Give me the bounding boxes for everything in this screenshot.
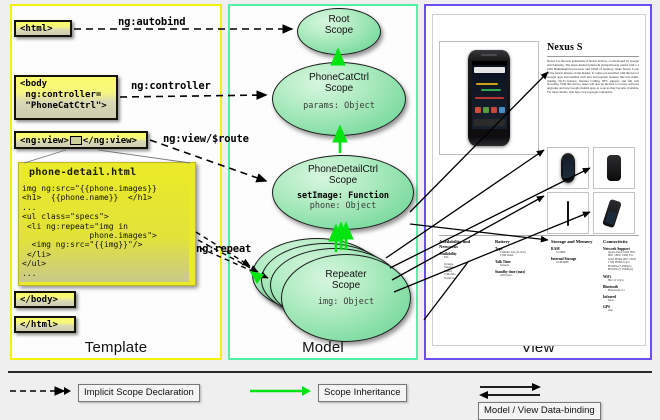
phone-front-screen — [563, 158, 574, 178]
phone-dock — [474, 119, 505, 126]
phone-back-icon — [607, 155, 621, 181]
spec-value: 428 hours — [495, 274, 543, 278]
phonedetailctrl-scope-member-setimage: setImage: Function — [273, 191, 413, 201]
legend-label: Model / View Data-binding — [478, 402, 601, 420]
code-box-ng-view: <ng:view></ng:view> — [14, 131, 148, 149]
label-ng-repeat: ng:repeat — [196, 243, 251, 255]
spec-value: Lithium Ion (Li-Ion) 1500 mAh — [495, 251, 543, 258]
title-divider — [547, 56, 639, 57]
repeater-scope-title-1: Repeater — [282, 269, 410, 280]
phone-app-icon-4 — [499, 107, 505, 113]
thumbnail-phone-angled[interactable] — [593, 192, 635, 234]
code-box-body: <body ng:controller= "PhoneCatCtrl"> — [14, 75, 118, 120]
legend-scope-inheritance: Scope Inheritance — [248, 382, 407, 400]
green-arrow-icon — [248, 384, 312, 398]
thumbnail-phone-back[interactable] — [593, 147, 635, 189]
spec-column-battery: Battery Type Lithium Ion (Li-Ion) 1500 m… — [495, 239, 543, 278]
spec-value: false — [603, 299, 646, 303]
note-title: phone-detail.html — [19, 163, 195, 180]
note-code: img ng:src="{{phone.images}} <h1> {{phon… — [19, 182, 189, 282]
spec-value: 802.11 b/g/n — [603, 279, 646, 283]
phone-hero-image — [468, 50, 510, 146]
code-box-html: <html> — [14, 20, 72, 37]
label-ng-autobind: ng:autobind — [118, 16, 185, 28]
spec-header: Storage and Memory — [551, 239, 599, 244]
thumbnail-phone-front[interactable] — [547, 147, 589, 189]
phone-detail-template-note: phone-detail.html img ng:src="{{phone.im… — [18, 162, 196, 286]
panel-model-label: Model — [230, 339, 416, 356]
phone-speaker — [481, 54, 497, 56]
rendered-view-page: Nexus S Nexus S is the next generation o… — [432, 14, 646, 346]
phonecatctrl-scope-member-params: params: Object — [273, 101, 405, 111]
phonedetailctrl-scope-title-1: PhoneDetailCtrl — [273, 164, 413, 175]
repeater-scope: Repeater Scope img: Object — [281, 254, 411, 342]
view-description: Nexus S is the next generation of Nexus … — [547, 60, 639, 138]
spec-value: M1, Orange, Singtel, Sprint, T-Mobile, V… — [439, 256, 487, 281]
phone-search-widget — [474, 67, 505, 73]
label-ng-controller: ng:controller — [131, 80, 211, 92]
double-arrow-icon — [478, 383, 542, 399]
phonecatctrl-scope-title-1: PhoneCatCtrl — [273, 72, 405, 83]
phone-edge-icon — [567, 201, 569, 226]
dashed-arrow-icon — [8, 384, 72, 398]
phone-app-icon-3 — [491, 107, 497, 113]
ng-view-open-tag: <ng:view> — [20, 136, 69, 146]
ng-view-close-tag: </ng:view> — [83, 136, 137, 146]
spec-value: Bluetooth 2.1 — [603, 289, 646, 293]
thumbnail-phone-edge[interactable] — [547, 192, 589, 234]
spec-divider — [439, 235, 639, 236]
spec-column-storage: Storage and Memory RAM 512MB Internal St… — [551, 239, 599, 264]
spec-column-availability: Availability and Networks Availability M… — [439, 239, 487, 281]
phone-angled-icon — [602, 199, 622, 228]
repeater-scope-title-2: Scope — [282, 280, 410, 291]
phonedetailctrl-scope: PhoneDetailCtrl Scope setImage: Function… — [272, 155, 414, 230]
phonecatctrl-scope-title-2: Scope — [273, 83, 405, 94]
spec-value: true — [603, 309, 646, 313]
phone-app-icon-2 — [483, 107, 489, 113]
phone-screen — [472, 61, 507, 129]
phone-front-icon — [561, 153, 575, 183]
diagram-root: Template <html> <body ng:controller= "Ph… — [0, 0, 660, 420]
label-ng-view-route: ng:view/$route — [163, 133, 249, 145]
legend-label: Scope Inheritance — [318, 384, 407, 402]
spec-table: Availability and Networks Availability M… — [437, 239, 641, 343]
root-scope-title-2: Scope — [298, 25, 380, 36]
phonecatctrl-scope: PhoneCatCtrl Scope params: Object — [272, 62, 406, 136]
legend-implicit-scope-declaration: Implicit Scope Declaration — [8, 382, 200, 400]
ng-view-placeholder-icon — [70, 136, 82, 145]
spec-header: Connectivity — [603, 239, 646, 244]
phone-angled-screen — [604, 211, 616, 225]
legend-label: Implicit Scope Declaration — [78, 384, 200, 402]
legend-divider — [8, 371, 652, 373]
code-box-close-body: </body> — [14, 291, 76, 308]
phone-wallpaper-stripe-2 — [481, 89, 501, 91]
spec-header: Availability and Networks — [439, 239, 487, 249]
root-scope: Root Scope — [297, 8, 381, 55]
repeater-scope-member-img: img: Object — [282, 297, 410, 307]
phonedetailctrl-scope-member-phone: phone: Object — [273, 201, 413, 211]
spec-column-connectivity: Connectivity Network Support Quad-band G… — [603, 239, 646, 312]
root-scope-title-1: Root — [298, 14, 380, 25]
phone-app-icon-1 — [475, 107, 481, 113]
hero-image-frame — [439, 41, 539, 155]
spec-value: 512MB — [551, 251, 599, 255]
panel-template-label: Template — [12, 339, 220, 356]
phone-wallpaper-stripe-3 — [475, 97, 504, 99]
phone-status-bar — [472, 61, 507, 65]
spec-value: Quad-band GSM 850, 900, 1800, 1900 Tri- … — [603, 251, 646, 273]
legend-model-view-data-binding: Model / View Data-binding — [478, 382, 660, 400]
spec-value: 6 hours — [495, 264, 543, 268]
phonedetailctrl-scope-title-2: Scope — [273, 175, 413, 186]
phone-wallpaper-stripe-1 — [476, 83, 498, 85]
view-page-title: Nexus S — [547, 42, 583, 53]
code-box-close-html: </html> — [14, 316, 76, 333]
spec-value: 16384MB — [551, 261, 599, 265]
spec-header: Battery — [495, 239, 543, 244]
